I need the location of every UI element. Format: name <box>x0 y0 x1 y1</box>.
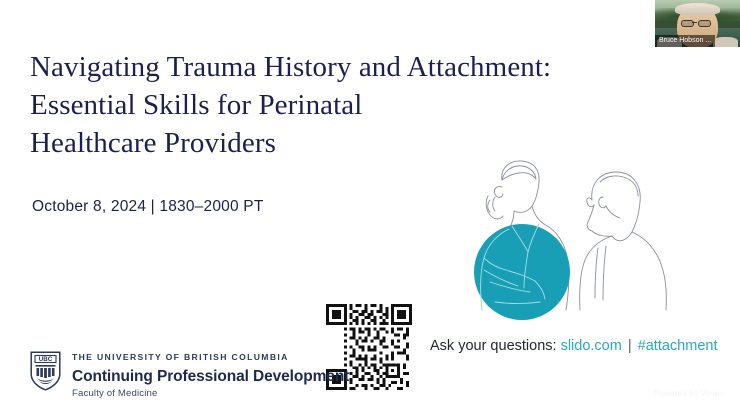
svg-text:UBC: UBC <box>39 356 53 363</box>
event-date-time: October 8, 2024 | 1830–2000 PT <box>32 198 264 216</box>
participant-video-thumbnail[interactable]: Bruce Hobson ... <box>655 0 740 47</box>
title-line-1: Navigating Trauma History and Attachment… <box>30 48 500 86</box>
ubc-unit-name: Continuing Professional Development <box>72 368 349 386</box>
ubc-logo: UBC THE UNIVERSITY OF BRITISH COLUMBIA C… <box>30 351 349 399</box>
thumbnail-glasses-bridge <box>692 22 697 23</box>
page-title: Navigating Trauma History and Attachment… <box>30 48 500 162</box>
title-line-2: Essential Skills for Perinatal <box>30 86 500 124</box>
ubc-university-name: THE UNIVERSITY OF BRITISH COLUMBIA <box>72 352 349 362</box>
slido-link[interactable]: slido.com <box>561 338 622 354</box>
teal-circle <box>474 224 570 320</box>
slido-separator: | <box>626 338 634 354</box>
ubc-crest-icon: UBC <box>30 351 61 391</box>
ask-questions-line: Ask your questions: slido.com | #attachm… <box>430 338 717 354</box>
presentation-slide: Navigating Trauma History and Attachment… <box>0 0 740 416</box>
ubc-logo-text: THE UNIVERSITY OF BRITISH COLUMBIA Conti… <box>72 351 349 399</box>
thumbnail-hair <box>675 3 719 15</box>
title-line-3: Healthcare Providers <box>30 124 500 162</box>
slido-hashtag: #attachment <box>638 338 718 354</box>
participant-name-label: Bruce Hobson ... <box>655 35 715 47</box>
thumbnail-shoulder-right <box>713 37 739 47</box>
two-people-illustration <box>440 152 675 327</box>
ubc-faculty-name: Faculty of Medicine <box>72 388 349 399</box>
vimeo-watermark: Powered by Vimeo <box>654 389 724 398</box>
ask-questions-prompt: Ask your questions: <box>430 338 557 354</box>
thumbnail-glasses-right <box>698 20 712 27</box>
